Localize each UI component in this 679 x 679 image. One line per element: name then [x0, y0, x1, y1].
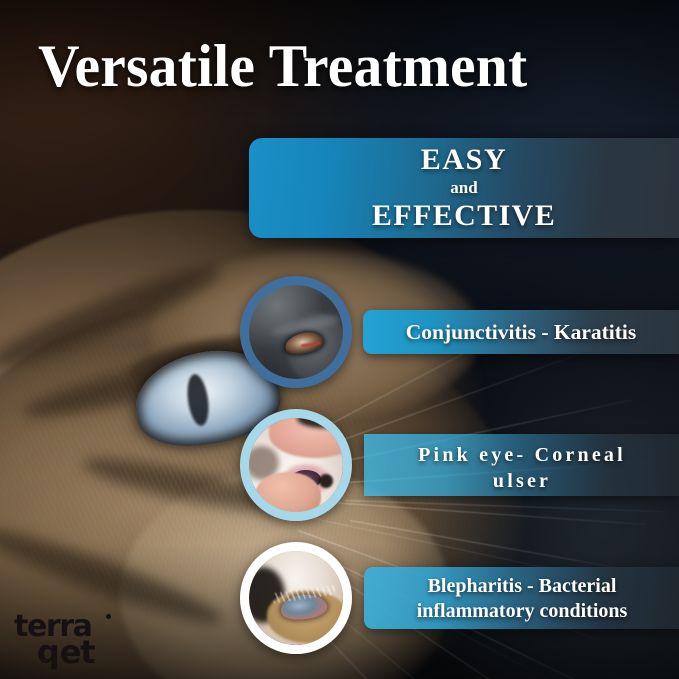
page-title: Versatile Treatment [38, 34, 527, 98]
human-finger [255, 472, 321, 512]
logo-text-pet: pet [38, 636, 94, 668]
condition-label-pink-eye: Pink eye- Corneal ulser [364, 434, 679, 496]
condition-label-line1: Pink eye- Corneal [364, 442, 679, 468]
promo-image-canvas: Versatile Treatment EASY and EFFECTIVE C… [0, 0, 679, 679]
condition-image-conjunctivitis [240, 276, 352, 388]
condition-label-conjunctivitis: Conjunctivitis - Karatitis [363, 310, 679, 354]
condition-row-pink-eye: Pink eye- Corneal ulser [240, 409, 679, 521]
logo-dot [106, 614, 111, 619]
dog-eye-photo [249, 285, 343, 379]
condition-row-blepharitis: Blepharitis - Bacterial inflammatory con… [240, 542, 679, 654]
rabbit-eye-photo [249, 418, 343, 512]
banner-line-and: and [450, 176, 477, 200]
banner-line-easy: EASY [421, 144, 507, 176]
banner-line-effective: EFFECTIVE [372, 200, 556, 232]
logo-mirrored-p: p [38, 636, 60, 668]
condition-label-line2: ulser [364, 468, 679, 494]
condition-label-blepharitis: Blepharitis - Bacterial inflammatory con… [364, 567, 679, 629]
rabbit-eye-secondary [319, 474, 333, 488]
condition-image-pink-eye [240, 409, 352, 521]
condition-image-blepharitis [240, 542, 352, 654]
brand-logo-terrapet: terra pet [14, 612, 154, 670]
condition-row-conjunctivitis: Conjunctivitis - Karatitis [240, 276, 679, 388]
condition-label-line1: Blepharitis - Bacterial [364, 574, 679, 599]
condition-label-line2: inflammatory conditions [364, 599, 679, 624]
easy-effective-banner: EASY and EFFECTIVE [249, 138, 679, 238]
cream-dog-eye-photo [249, 551, 343, 645]
logo-text-et: et [60, 633, 95, 671]
